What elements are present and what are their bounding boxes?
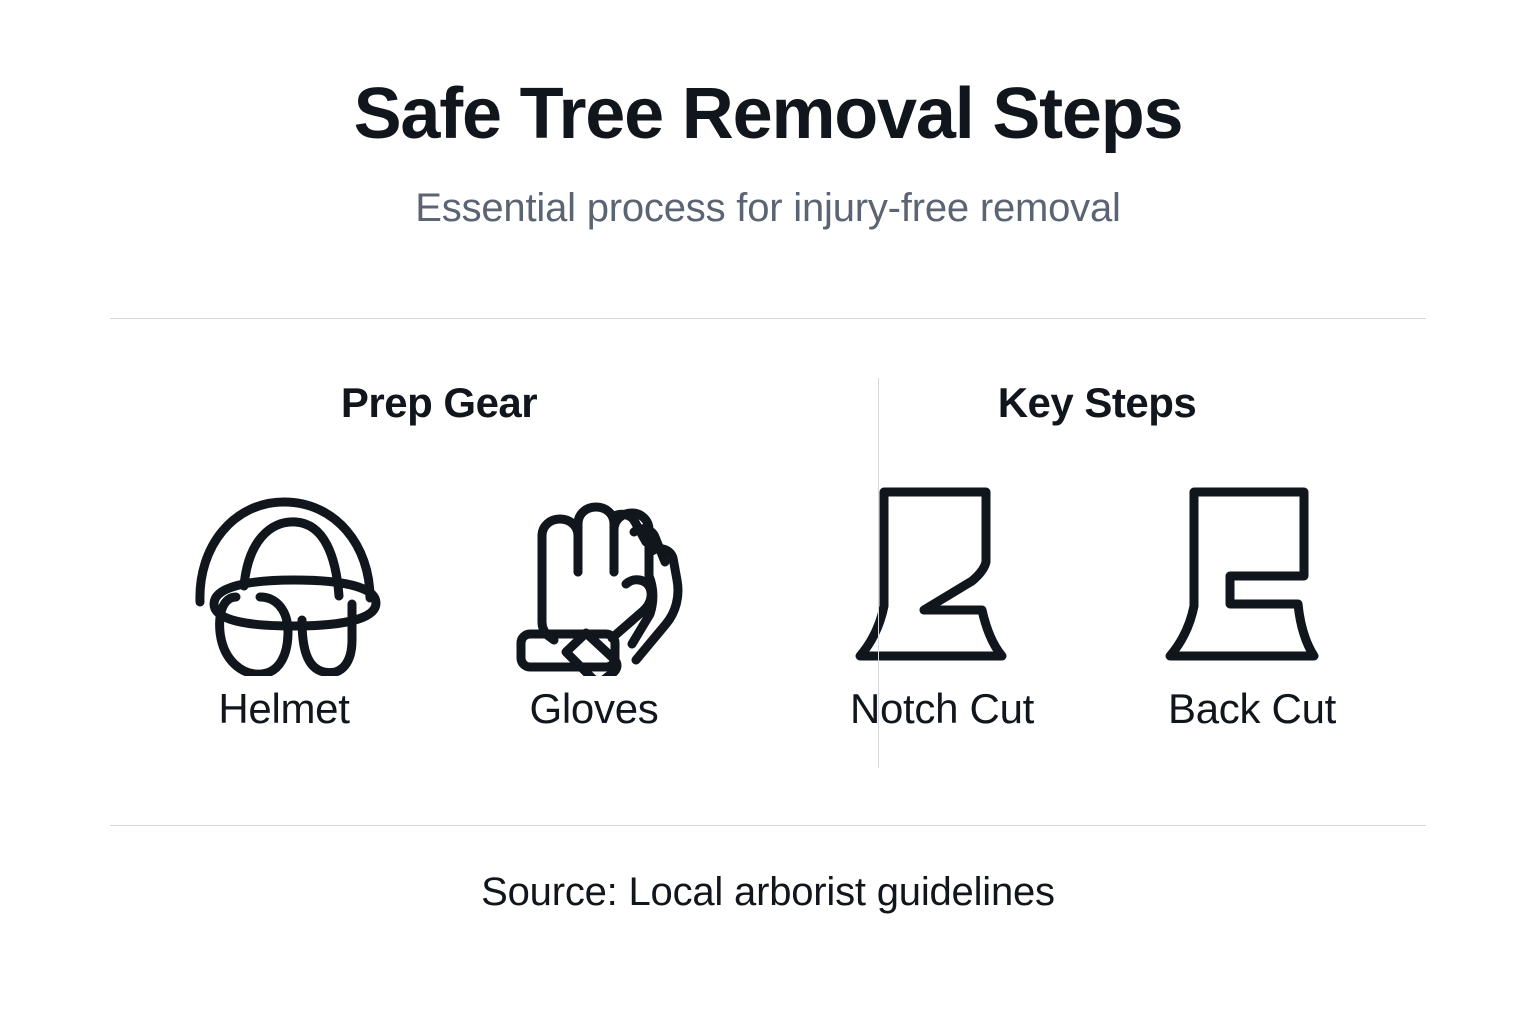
divider-bottom bbox=[110, 825, 1426, 826]
notch-cut-icon bbox=[842, 476, 1042, 676]
divider-top bbox=[110, 318, 1426, 319]
helmet-icon bbox=[184, 476, 384, 676]
items-prep-gear: Helmet bbox=[159, 424, 719, 730]
item-back-cut[interactable]: Back Cut bbox=[1127, 476, 1377, 730]
page-title: Safe Tree Removal Steps bbox=[0, 78, 1536, 150]
page-subtitle: Essential process for injury-free remova… bbox=[0, 150, 1536, 228]
infographic-root: Safe Tree Removal Steps Essential proces… bbox=[0, 0, 1536, 1024]
item-label-gloves: Gloves bbox=[530, 676, 659, 730]
column-divider bbox=[878, 378, 879, 768]
item-gloves[interactable]: Gloves bbox=[469, 476, 719, 730]
column-prep-gear: Prep Gear bbox=[110, 372, 768, 772]
column-heading-key-steps: Key Steps bbox=[998, 372, 1197, 424]
footer: Source: Local arborist guidelines bbox=[0, 872, 1536, 912]
header: Safe Tree Removal Steps Essential proces… bbox=[0, 0, 1536, 228]
items-key-steps: Notch Cut Back Cut bbox=[817, 424, 1377, 730]
column-key-steps: Key Steps Notch Cut bbox=[768, 372, 1426, 772]
item-helmet[interactable]: Helmet bbox=[159, 476, 409, 730]
item-label-helmet: Helmet bbox=[218, 676, 349, 730]
content-columns: Prep Gear bbox=[110, 372, 1426, 772]
source-note: Source: Local arborist guidelines bbox=[0, 872, 1536, 912]
item-notch-cut[interactable]: Notch Cut bbox=[817, 476, 1067, 730]
item-label-back-cut: Back Cut bbox=[1168, 676, 1336, 730]
back-cut-icon bbox=[1152, 476, 1352, 676]
column-heading-prep-gear: Prep Gear bbox=[341, 372, 537, 424]
gloves-icon bbox=[494, 476, 694, 676]
